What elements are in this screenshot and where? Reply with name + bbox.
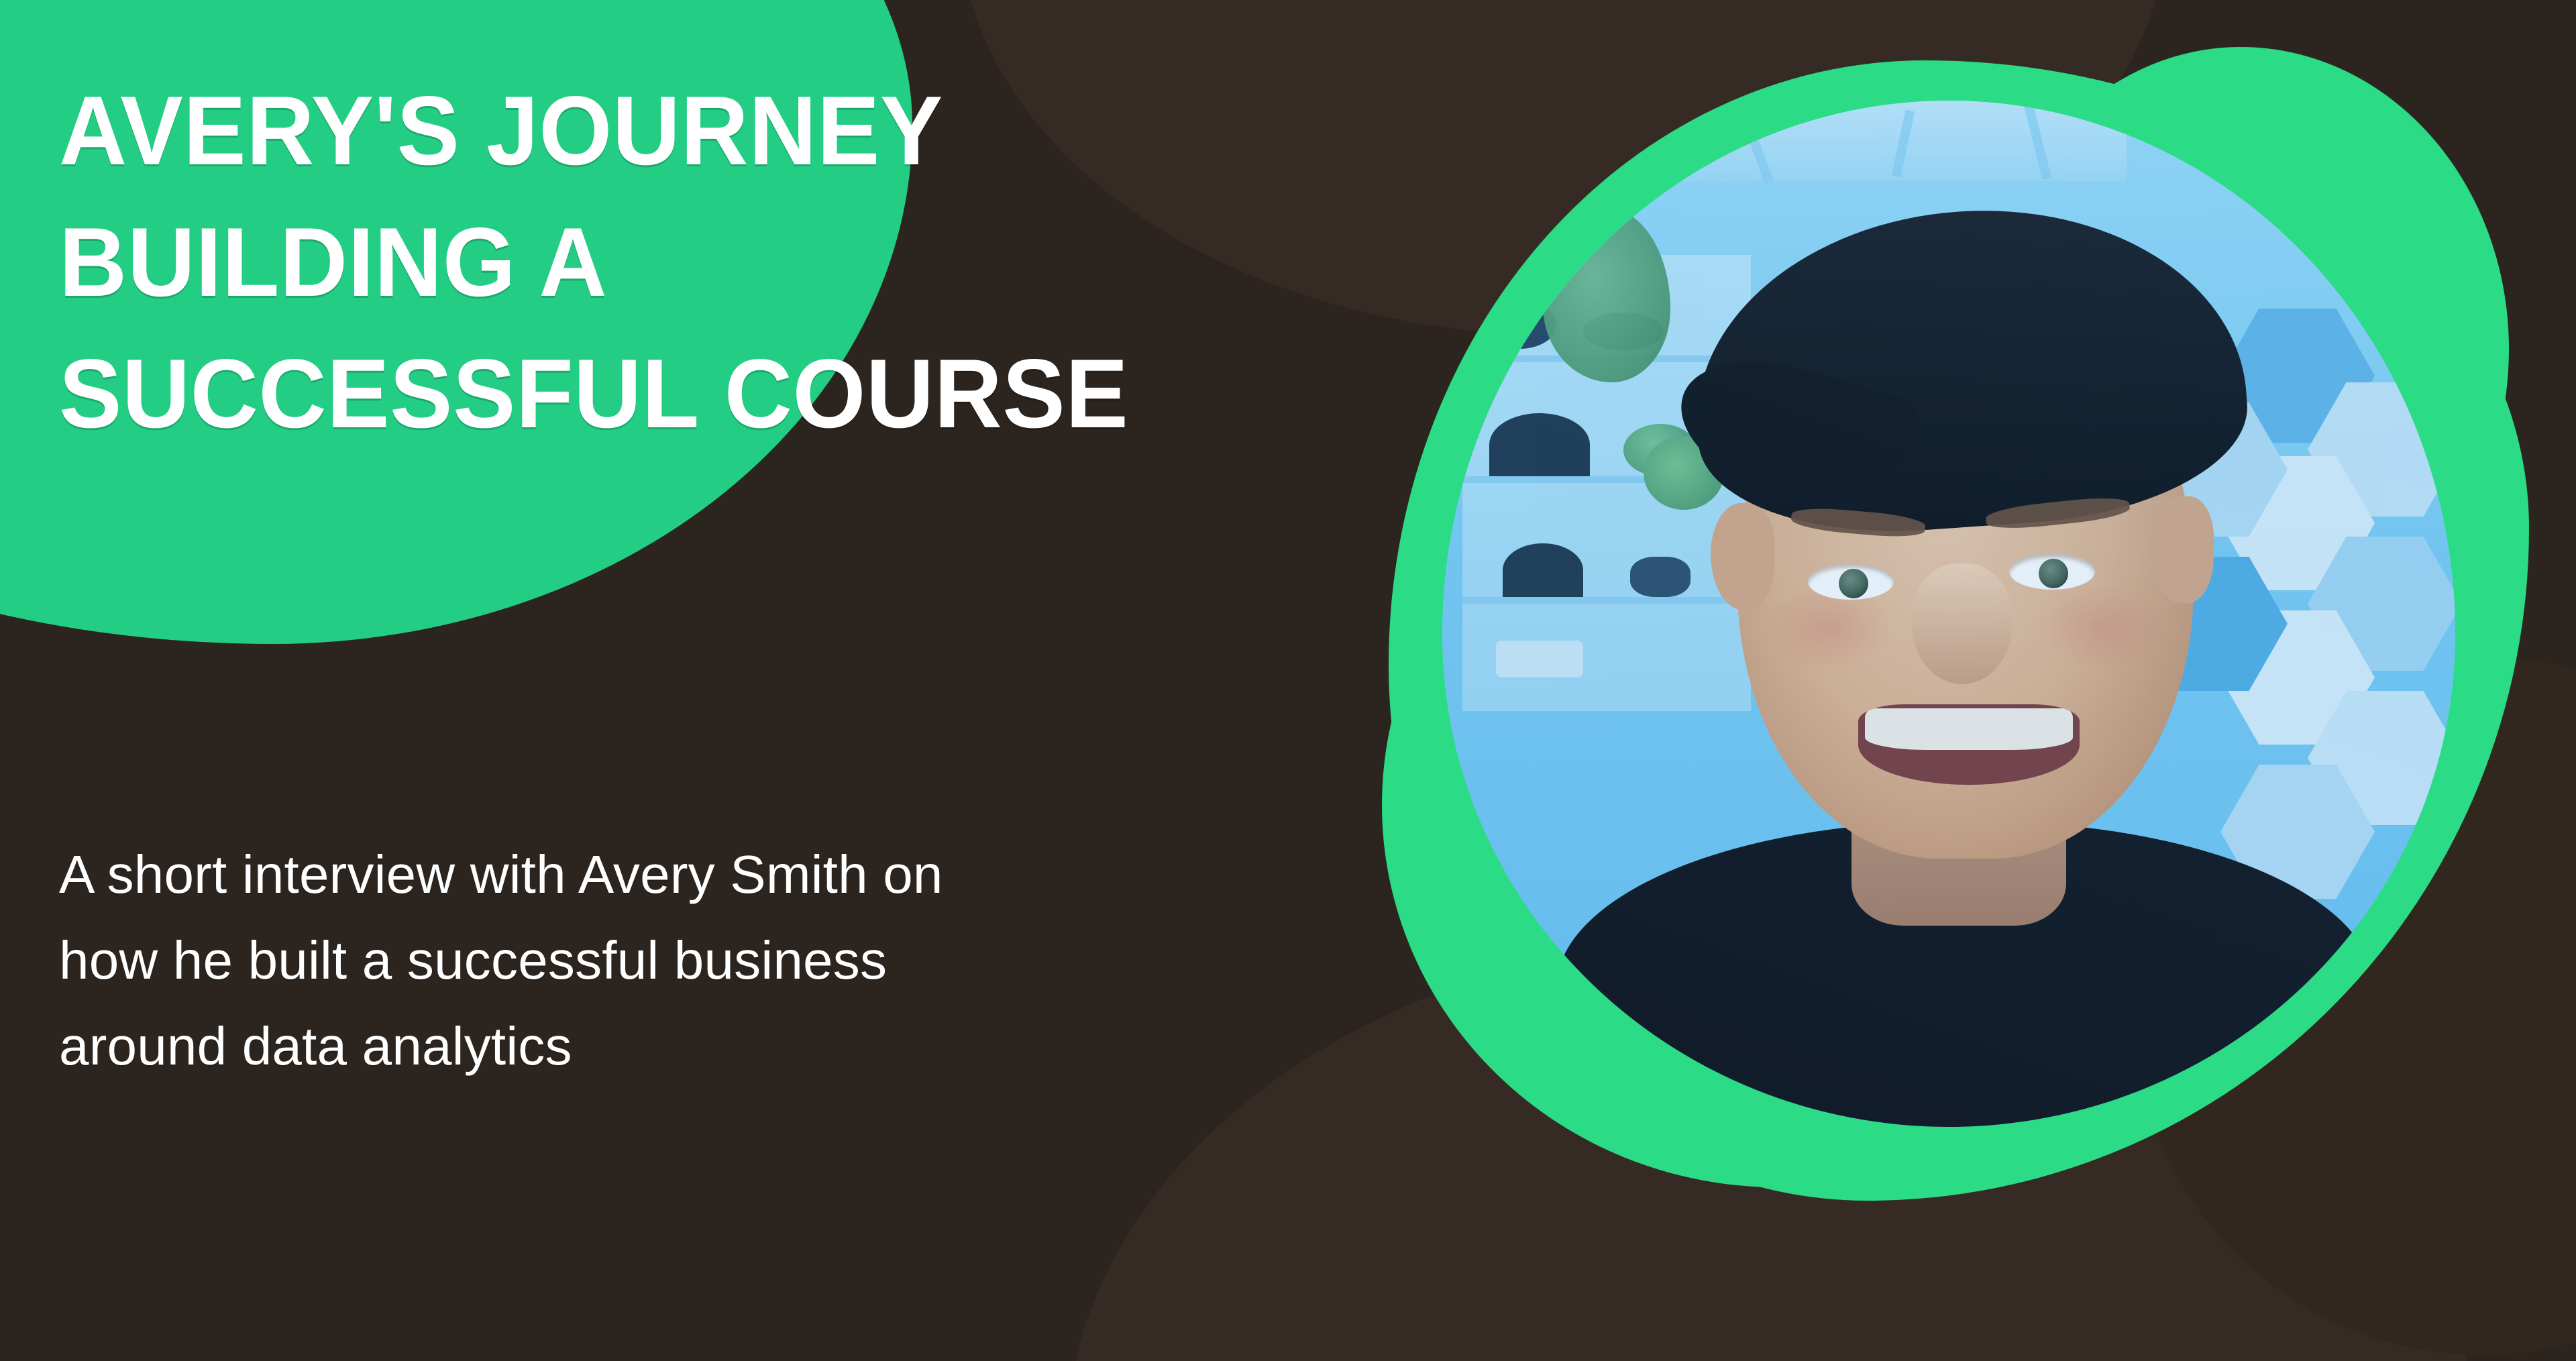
title-line-2: BUILDING A xyxy=(59,197,1411,328)
page-subtitle: A short interview with Avery Smith on ho… xyxy=(59,832,1434,1089)
subtitle-line-2: how he built a successful business xyxy=(59,918,1434,1003)
subtitle-line-1: A short interview with Avery Smith on xyxy=(59,832,1434,918)
photo-nose xyxy=(1912,563,2012,684)
avatar xyxy=(1442,101,2455,1127)
photo-ear-right xyxy=(2150,496,2214,604)
photo-person xyxy=(1442,101,2455,1127)
slide-canvas: AVERY'S JOURNEY BUILDING A SUCCESSFUL CO… xyxy=(0,0,2576,1361)
title-line-3: SUCCESSFUL COURSE xyxy=(59,328,1411,459)
photo-ear-left xyxy=(1711,503,1774,610)
title-line-1: AVERY'S JOURNEY xyxy=(59,65,1411,197)
photo-mouth xyxy=(1858,704,2080,785)
page-title: AVERY'S JOURNEY BUILDING A SUCCESSFUL CO… xyxy=(59,65,1468,459)
portrait-cluster xyxy=(1368,47,2576,1295)
subtitle-line-3: around data analytics xyxy=(59,1003,1434,1089)
